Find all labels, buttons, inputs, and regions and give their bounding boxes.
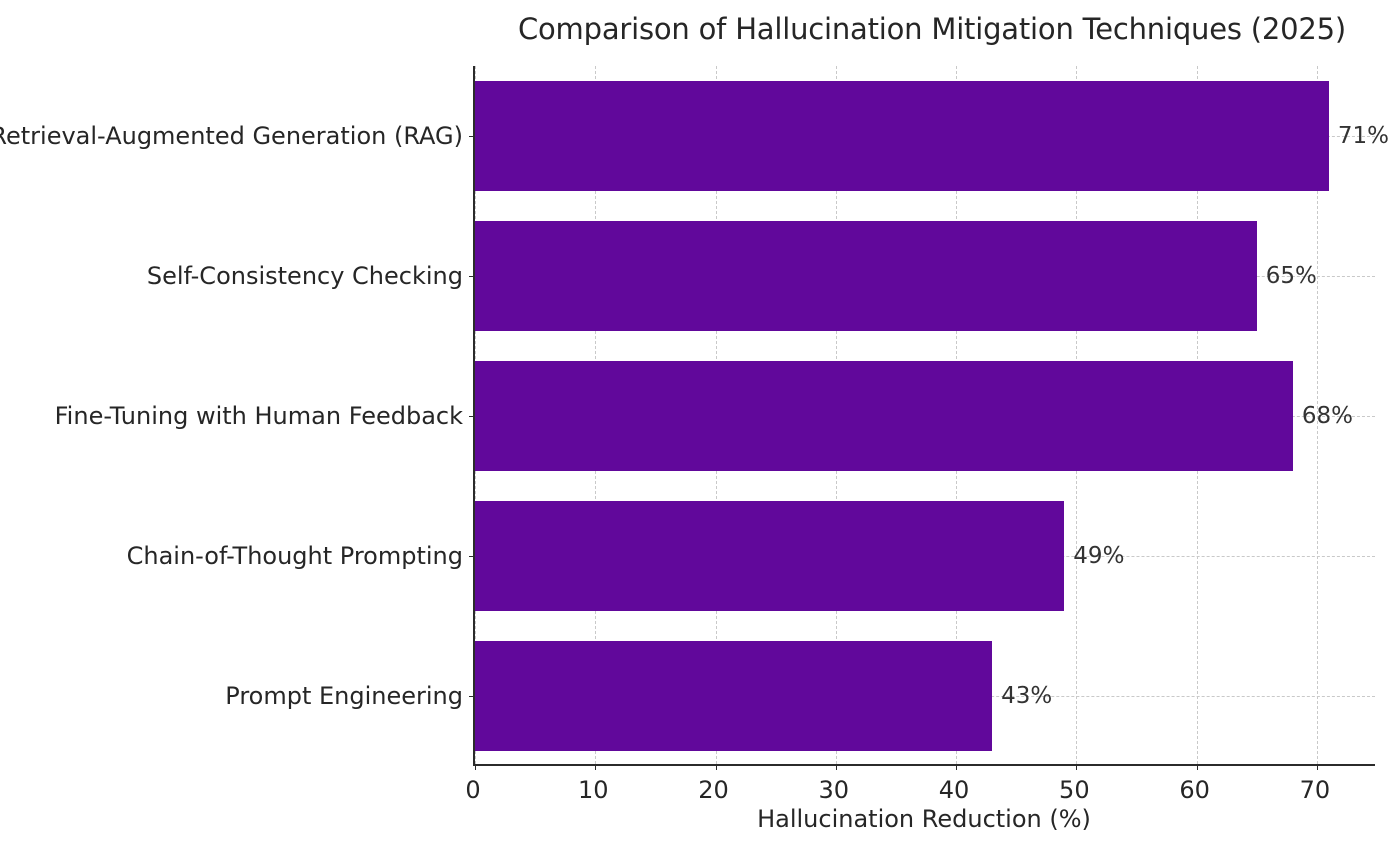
x-axis-title: Hallucination Reduction (%) bbox=[473, 805, 1375, 833]
y-axis-tick-label: Self-Consistency Checking bbox=[147, 262, 463, 290]
chart-figure: Comparison of Hallucination Mitigation T… bbox=[0, 0, 1391, 842]
y-axis-tick-mark bbox=[469, 276, 475, 277]
x-axis-tick-label: 70 bbox=[1300, 776, 1331, 804]
x-axis-tick-label: 30 bbox=[819, 776, 850, 804]
y-axis-tick-label: Prompt Engineering bbox=[225, 682, 463, 710]
x-axis-tick-mark bbox=[595, 764, 596, 770]
x-axis-tick-label: 0 bbox=[465, 776, 480, 804]
plot-area: 43%49%68%65%71% bbox=[473, 66, 1375, 766]
bar-value-label: 71% bbox=[1338, 123, 1389, 149]
y-axis-tick-labels: Prompt EngineeringChain-of-Thought Promp… bbox=[0, 66, 463, 766]
y-axis-tick-label: Retrieval-Augmented Generation (RAG) bbox=[0, 122, 463, 150]
x-axis-tick-mark bbox=[475, 764, 476, 770]
y-axis-tick-mark bbox=[469, 136, 475, 137]
x-axis-tick-label: 50 bbox=[1059, 776, 1090, 804]
bar[interactable] bbox=[475, 221, 1257, 331]
bar[interactable] bbox=[475, 361, 1293, 471]
y-axis-tick-label: Chain-of-Thought Prompting bbox=[127, 542, 463, 570]
x-axis-tick-label: 40 bbox=[939, 776, 970, 804]
x-axis-tick-mark bbox=[836, 764, 837, 770]
bar[interactable] bbox=[475, 501, 1064, 611]
bar[interactable] bbox=[475, 641, 992, 751]
bar-value-label: 68% bbox=[1302, 403, 1353, 429]
x-axis-tick-mark bbox=[1317, 764, 1318, 770]
x-axis-tick-mark bbox=[1076, 764, 1077, 770]
x-axis-tick-label: 20 bbox=[698, 776, 729, 804]
bar[interactable] bbox=[475, 81, 1329, 191]
x-axis-tick-label: 10 bbox=[578, 776, 609, 804]
x-axis-tick-label: 60 bbox=[1179, 776, 1210, 804]
x-axis-tick-mark bbox=[716, 764, 717, 770]
x-axis-tick-mark bbox=[956, 764, 957, 770]
bar-value-label: 43% bbox=[1001, 683, 1052, 709]
bar-value-label: 49% bbox=[1073, 543, 1124, 569]
y-axis-tick-mark bbox=[469, 696, 475, 697]
bar-value-label: 65% bbox=[1266, 263, 1317, 289]
x-axis-tick-mark bbox=[1197, 764, 1198, 770]
y-axis-tick-mark bbox=[469, 416, 475, 417]
y-axis-tick-mark bbox=[469, 556, 475, 557]
y-axis-tick-label: Fine-Tuning with Human Feedback bbox=[55, 402, 463, 430]
chart-title: Comparison of Hallucination Mitigation T… bbox=[473, 12, 1391, 46]
